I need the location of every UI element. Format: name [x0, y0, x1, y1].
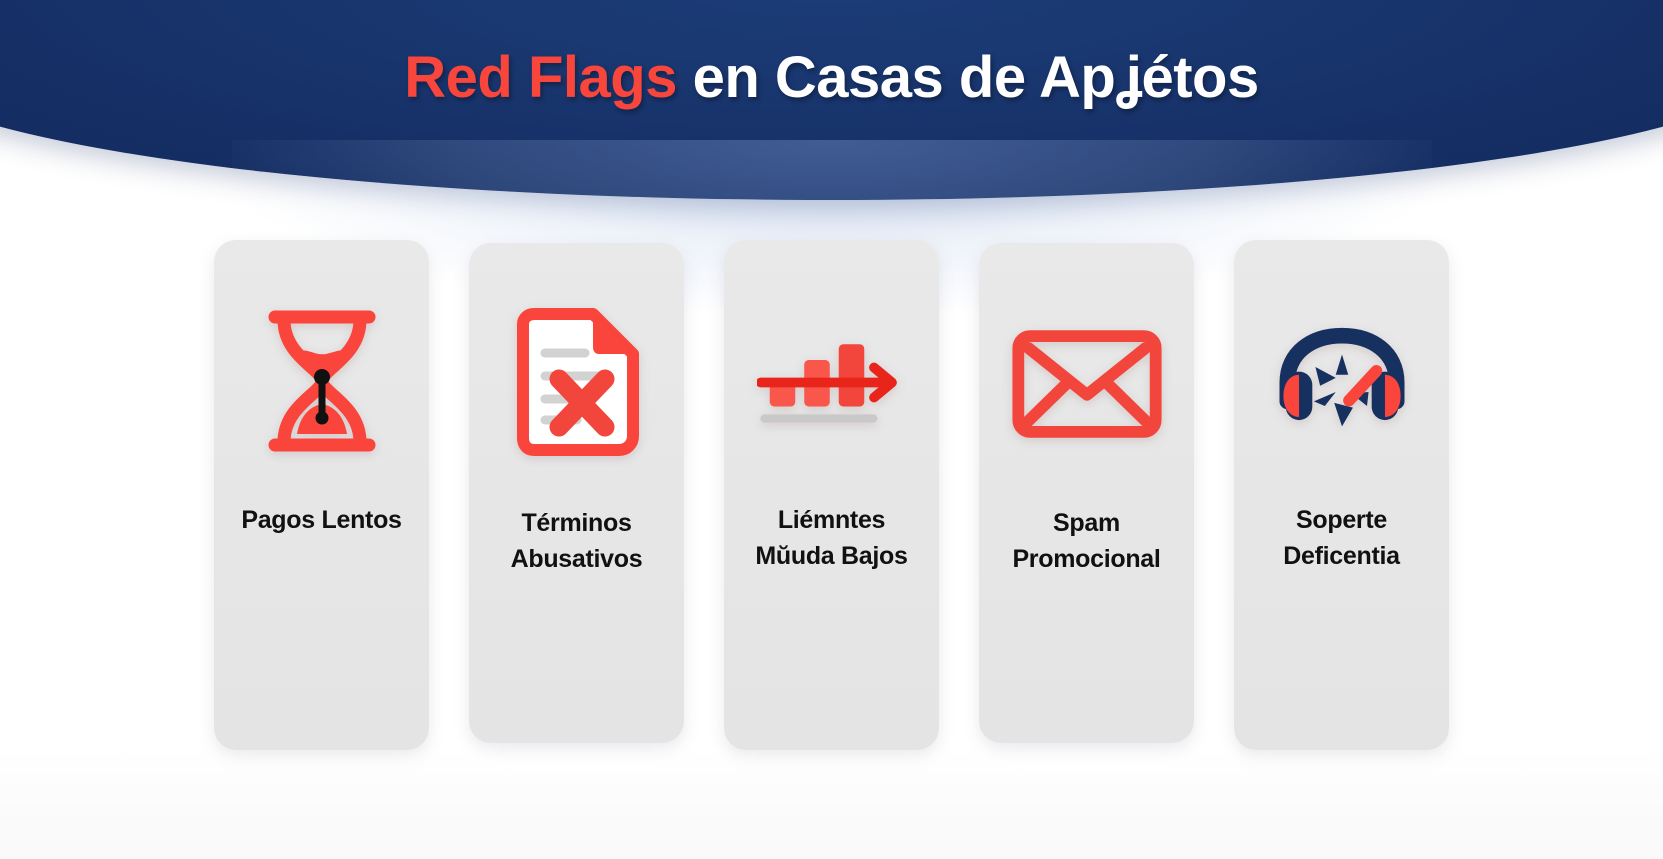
card-label-line2: Mŭuda Bajos: [732, 539, 932, 575]
card-label-line1: Liémntes: [778, 506, 885, 534]
card-label-line2: Deficentia: [1242, 539, 1442, 575]
card-label: Liémntes Mŭuda Bajos: [732, 503, 932, 574]
card-label-line1: Spam: [1053, 509, 1120, 537]
page-title: Red Flags en Casas de Apʝétos: [0, 44, 1663, 111]
document-x-icon: [502, 301, 652, 466]
card-label: Spam Promocional: [987, 506, 1187, 577]
bar-chart-arrow-icon: [757, 298, 907, 463]
page-title-accent: Red Flags: [404, 45, 677, 110]
card-row: Pagos Lentos: [0, 240, 1663, 760]
card-label-line2: Abusativos: [477, 542, 677, 578]
card-label: Términos Abusativos: [477, 506, 677, 577]
card-label-line1: Pagos Lentos: [241, 506, 401, 534]
headphones-broken-icon: [1267, 298, 1417, 463]
card-pagos-lentos[interactable]: Pagos Lentos: [214, 240, 429, 750]
card-label-line2: Promocional: [987, 542, 1187, 578]
card-soporte-deficiente[interactable]: Soperte Deficentia: [1234, 240, 1449, 750]
card-label-line1: Soperte: [1296, 506, 1387, 534]
envelope-icon: [1012, 301, 1162, 466]
card-spam-promocional[interactable]: Spam Promocional: [979, 243, 1194, 743]
card-limites-bajos[interactable]: Liémntes Mŭuda Bajos: [724, 240, 939, 750]
page-title-rest: en Casas de Apʝétos: [677, 45, 1259, 110]
infographic-root: Red Flags en Casas de Apʝétos: [0, 0, 1663, 859]
card-label: Soperte Deficentia: [1242, 503, 1442, 574]
hourglass-icon: [247, 298, 397, 463]
bottom-fade: [0, 749, 1663, 859]
card-terminos-abusativos[interactable]: Términos Abusativos: [469, 243, 684, 743]
card-label-line1: Términos: [521, 509, 631, 537]
card-label: Pagos Lentos: [222, 503, 422, 539]
